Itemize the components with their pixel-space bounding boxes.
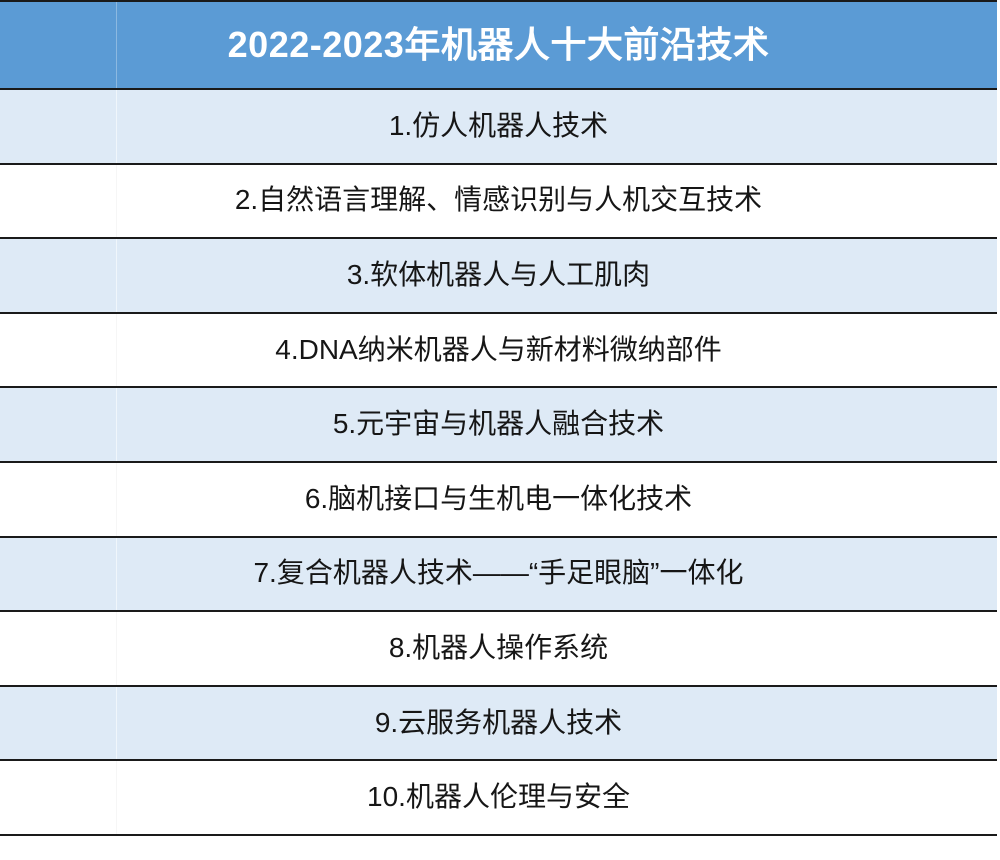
table-row: 1.仿人机器人技术 — [0, 89, 997, 164]
list-item-2: 2.自然语言理解、情感识别与人机交互技术 — [0, 164, 997, 239]
list-item-3: 3.软体机器人与人工肌肉 — [0, 238, 997, 313]
list-item-label: 7.复合机器人技术——“手足眼脑”一体化 — [253, 558, 743, 589]
table-row: 10.机器人伦理与安全 — [0, 760, 997, 835]
table-row: 4.DNA纳米机器人与新材料微纳部件 — [0, 313, 997, 388]
list-item-7: 7.复合机器人技术——“手足眼脑”一体化 — [0, 537, 997, 612]
list-item-label: 4.DNA纳米机器人与新材料微纳部件 — [275, 335, 721, 366]
list-item-label: 10.机器人伦理与安全 — [367, 782, 630, 813]
table-row: 9.云服务机器人技术 — [0, 686, 997, 761]
list-item-label: 8.机器人操作系统 — [389, 633, 608, 664]
table-header-row: 2022-2023年机器人十大前沿技术 — [0, 1, 997, 89]
list-item-label: 6.脑机接口与生机电一体化技术 — [305, 484, 692, 515]
list-item-8: 8.机器人操作系统 — [0, 611, 997, 686]
table-row: 5.元宇宙与机器人融合技术 — [0, 387, 997, 462]
list-item-5: 5.元宇宙与机器人融合技术 — [0, 387, 997, 462]
page-title: 2022-2023年机器人十大前沿技术 — [228, 25, 770, 65]
list-item-label: 9.云服务机器人技术 — [375, 708, 622, 739]
table-container: 2022-2023年机器人十大前沿技术 1.仿人机器人技术 2.自然语言理解、情… — [0, 0, 1000, 860]
table-body: 1.仿人机器人技术 2.自然语言理解、情感识别与人机交互技术 3.软体机器人与人… — [0, 89, 997, 835]
list-item-4: 4.DNA纳米机器人与新材料微纳部件 — [0, 313, 997, 388]
table-header: 2022-2023年机器人十大前沿技术 — [0, 1, 997, 89]
list-item-10: 10.机器人伦理与安全 — [0, 760, 997, 835]
table-row: 3.软体机器人与人工肌肉 — [0, 238, 997, 313]
table-row: 7.复合机器人技术——“手足眼脑”一体化 — [0, 537, 997, 612]
list-item-label: 1.仿人机器人技术 — [389, 111, 608, 142]
list-item-6: 6.脑机接口与生机电一体化技术 — [0, 462, 997, 537]
list-item-9: 9.云服务机器人技术 — [0, 686, 997, 761]
list-item-1: 1.仿人机器人技术 — [0, 89, 997, 164]
list-item-label: 3.软体机器人与人工肌肉 — [347, 260, 650, 291]
table-row: 2.自然语言理解、情感识别与人机交互技术 — [0, 164, 997, 239]
table-title-cell: 2022-2023年机器人十大前沿技术 — [0, 1, 997, 89]
table-row: 6.脑机接口与生机电一体化技术 — [0, 462, 997, 537]
list-item-label: 5.元宇宙与机器人融合技术 — [333, 409, 664, 440]
top-technologies-table: 2022-2023年机器人十大前沿技术 1.仿人机器人技术 2.自然语言理解、情… — [0, 0, 997, 836]
table-row: 8.机器人操作系统 — [0, 611, 997, 686]
list-item-label: 2.自然语言理解、情感识别与人机交互技术 — [235, 185, 762, 216]
